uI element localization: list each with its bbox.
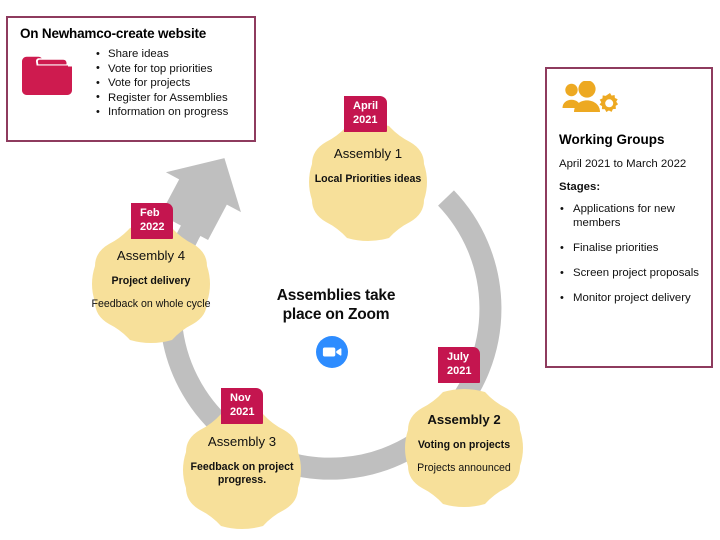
- working-groups-info-box: Working Groups April 2021 to March 2022 …: [545, 67, 713, 368]
- list-item: Applications for new members: [559, 202, 699, 230]
- list-item: Information on progress: [96, 105, 228, 120]
- working-groups-title: Working Groups: [559, 132, 699, 147]
- node-subtitle-primary: Voting on projects: [418, 439, 510, 452]
- list-item: Screen project proposals: [559, 266, 699, 280]
- date-badge-assembly-4: Feb 2022: [131, 203, 173, 239]
- list-item: Vote for projects: [96, 76, 228, 91]
- node-title: Assembly 2: [427, 412, 500, 428]
- date-badge-assembly-3: Nov 2021: [221, 388, 263, 424]
- list-item: Share ideas: [96, 47, 228, 62]
- assembly-node-assembly-3[interactable]: Assembly 3 Feedback on project progress.: [180, 408, 304, 532]
- working-groups-stage-list: Applications for new members Finalise pr…: [559, 202, 699, 305]
- website-box-title: On Newhamco-create website: [20, 26, 244, 41]
- node-text-group: Assembly 4 Project delivery Feedback on …: [89, 222, 213, 346]
- date-badge-assembly-2: July 2021: [438, 347, 480, 383]
- center-caption-line2: place on Zoom: [248, 305, 424, 324]
- node-title: Assembly 3: [208, 434, 276, 450]
- node-title: Assembly 1: [334, 146, 402, 162]
- people-gear-icon: [561, 81, 699, 128]
- assembly-node-assembly-1[interactable]: Assembly 1 Local Priorities ideas: [306, 120, 430, 244]
- node-subtitle-primary: Local Priorities ideas: [315, 173, 422, 186]
- date-badge-assembly-1: April 2021: [344, 96, 387, 132]
- list-item: Vote for top priorities: [96, 62, 228, 77]
- node-title: Assembly 4: [117, 248, 185, 264]
- working-groups-stages-label: Stages:: [559, 181, 699, 193]
- website-info-box: On Newhamco-create website Share ideas V…: [6, 16, 256, 142]
- node-subtitle-secondary: Feedback on whole cycle: [92, 298, 211, 311]
- center-caption: Assemblies take place on Zoom: [248, 286, 424, 324]
- center-caption-line1: Assemblies take: [248, 286, 424, 305]
- website-bullet-list: Share ideas Vote for top priorities Vote…: [80, 47, 228, 120]
- node-subtitle-primary: Project delivery: [112, 275, 191, 288]
- node-text-group: Assembly 1 Local Priorities ideas: [306, 120, 430, 244]
- working-groups-period: April 2021 to March 2022: [559, 158, 699, 170]
- zoom-video-icon: [316, 336, 348, 368]
- list-item: Monitor project delivery: [559, 291, 699, 305]
- node-text-group: Assembly 2 Voting on projects Projects a…: [402, 386, 526, 510]
- assembly-node-assembly-4[interactable]: Assembly 4 Project delivery Feedback on …: [89, 222, 213, 346]
- list-item: Finalise priorities: [559, 241, 699, 255]
- node-text-group: Assembly 3 Feedback on project progress.: [180, 408, 304, 532]
- node-subtitle-primary: Feedback on project progress.: [180, 461, 304, 487]
- assembly-node-assembly-2[interactable]: Assembly 2 Voting on projects Projects a…: [402, 386, 526, 510]
- folder-icon: [18, 47, 80, 106]
- node-subtitle-secondary: Projects announced: [417, 462, 511, 475]
- list-item: Register for Assemblies: [96, 91, 228, 106]
